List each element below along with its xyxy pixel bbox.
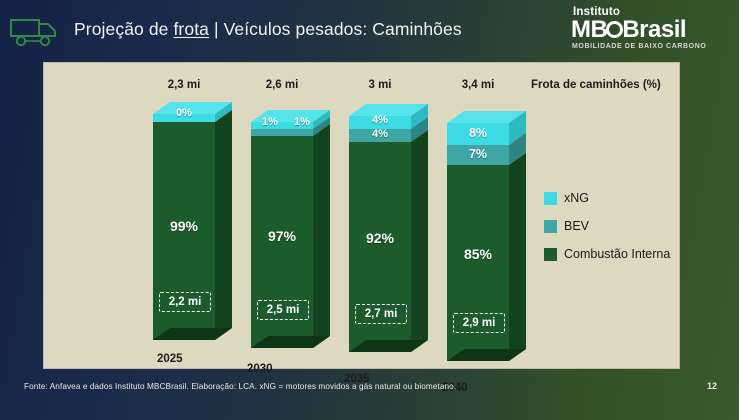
page-title: Projeção de frota | Veículos pesados: Ca… (74, 19, 462, 40)
bar-total-label-2030: 2,6 mi (242, 79, 322, 91)
brand-logo: Instituto MBBrasil MOBILIDADE DE BAIXO C… (551, 6, 723, 58)
slide-header: Projeção de frota | Veículos pesados: Ca… (0, 0, 739, 62)
bar-base-value-2025: 2,2 mi (159, 292, 211, 312)
bar-segment-bev-front-2030 (251, 129, 313, 136)
bar-segment-ice-side-2035 (411, 130, 428, 352)
bar-pct-xng-2040: 8% (447, 126, 509, 140)
legend-label-bev: BEV (564, 219, 589, 233)
bar-base-value-2030: 2,5 mi (257, 300, 309, 320)
logo-mbcbrasil-text: MBBrasil (571, 18, 723, 42)
bar-column-2035: 4% 4% 92% 2,7 mi (349, 104, 428, 352)
bar-pct-bev-2035: 4% (349, 128, 411, 140)
bar-segment-ice-side-2025 (215, 110, 232, 340)
bar-year-label-2030: 2030 (247, 363, 273, 375)
legend-label-combustao-interna: Combustão Interna (564, 247, 670, 261)
bar-year-label-2025: 2025 (157, 353, 183, 365)
bar-pct-bev-2040: 7% (447, 147, 509, 161)
bar-pct-bev-2030: 1% (277, 116, 327, 128)
bar-column-2025: 0% 99% 2,2 mi (153, 102, 232, 340)
logo-ring-icon (606, 21, 623, 38)
title-text-underlined: frota (173, 19, 209, 39)
legend-swatch-bev (544, 220, 557, 233)
bar-column-2030: 1% 1% 97% 2,5 mi (251, 110, 330, 348)
legend-item-combustao-interna[interactable]: Combustão Interna (544, 247, 670, 261)
bar-base-value-2035: 2,7 mi (355, 304, 407, 324)
bar-pct-ice-2035: 92% (349, 230, 411, 246)
bar-pct-xng-2025: 0% (153, 107, 215, 119)
logo-tagline: MOBILIDADE DE BAIXO CARBONO (572, 43, 723, 50)
bar-total-label-2035: 3 mi (340, 79, 420, 91)
bar-total-label-2025: 2,3 mi (144, 79, 224, 91)
legend-swatch-combustao-interna (544, 248, 557, 261)
chart-panel: 2,3 mi 0% 99% 2,2 mi (43, 62, 680, 369)
legend-swatch-xng (544, 192, 557, 205)
logo-mb: MB (571, 16, 607, 43)
bar-pct-xng-2035: 4% (349, 114, 411, 126)
bar-segment-ice-side-2030 (313, 124, 330, 348)
bar-pct-ice-2030: 97% (251, 228, 313, 244)
title-text-part2: | Veículos pesados: Caminhões (209, 19, 462, 39)
logo-brasil: Brasil (622, 16, 686, 43)
legend-item-xng[interactable]: xNG (544, 191, 589, 205)
bar-pct-ice-2025: 99% (153, 218, 215, 234)
legend-title: Frota de caminhões (%) (531, 79, 661, 91)
source-note: Fonte: Anfavea e dados Instituto MBCBras… (24, 382, 456, 391)
bar-column-2040: 8% 7% 85% 2,9 mi (447, 111, 526, 361)
page-number: 12 (707, 381, 717, 391)
truck-icon (8, 14, 62, 50)
legend-item-bev[interactable]: BEV (544, 219, 589, 233)
chart-area: 2,3 mi 0% 99% 2,2 mi (44, 63, 679, 368)
slide: Projeção de frota | Veículos pesados: Ca… (0, 0, 739, 420)
bar-total-label-2040: 3,4 mi (438, 79, 518, 91)
bar-base-value-2040: 2,9 mi (453, 313, 505, 333)
title-text-part1: Projeção de (74, 19, 173, 39)
bar-segment-ice-side-2040 (509, 153, 526, 361)
bar-pct-ice-2040: 85% (447, 246, 509, 262)
legend-label-xng: xNG (564, 191, 589, 205)
